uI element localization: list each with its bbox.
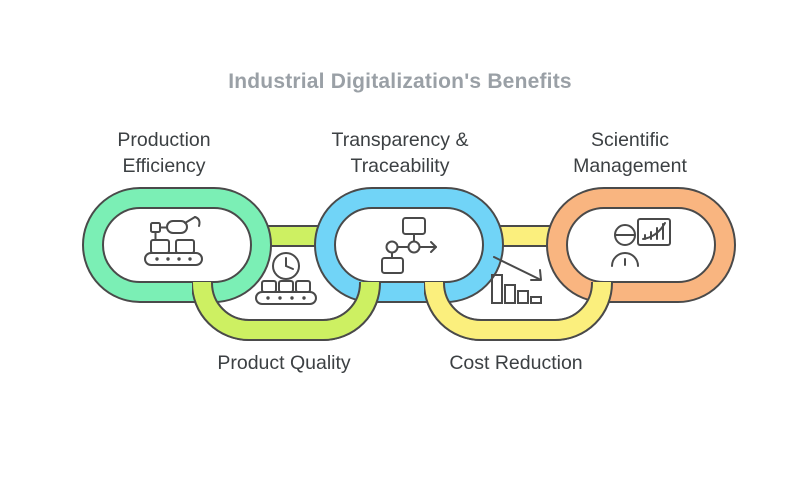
chain-link-production-efficiency[interactable] [83,188,271,302]
chain-link-scientific-management[interactable] [547,188,735,302]
infographic-canvas: Industrial Digitalization's Benefits Pro… [0,0,800,500]
chain-graphic [0,0,800,500]
chain-link-transparency-traceability[interactable] [315,188,503,302]
